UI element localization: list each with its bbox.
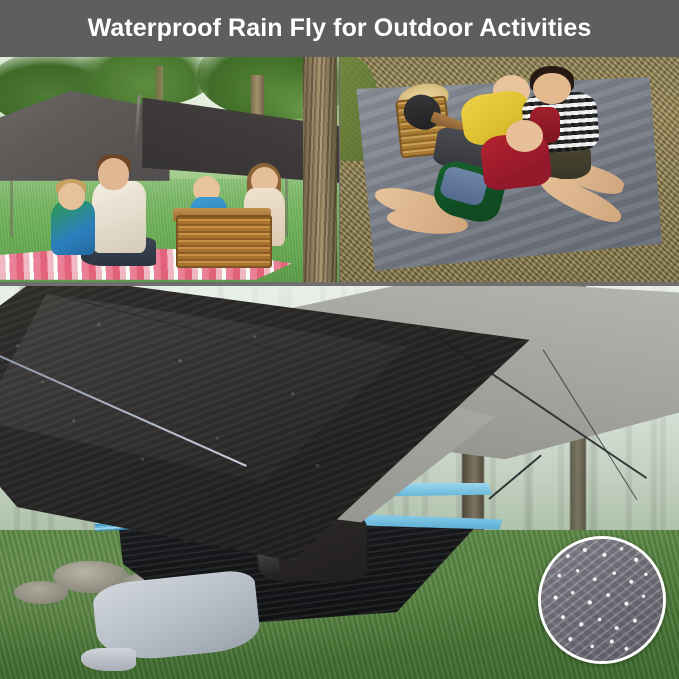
tarp-pole-right bbox=[285, 179, 288, 238]
boy-head bbox=[58, 183, 85, 210]
photo-panel-friends-blanket bbox=[340, 57, 679, 282]
panel-divider-vertical bbox=[339, 57, 340, 282]
tarp-pole-left bbox=[10, 174, 13, 237]
plaid-man-head bbox=[533, 73, 570, 105]
picnic-basket bbox=[176, 215, 272, 269]
scene-family-picnic bbox=[0, 57, 339, 282]
scene-friends-on-blanket bbox=[340, 57, 679, 282]
man-body bbox=[92, 181, 146, 253]
header-banner: Waterproof Rain Fly for Outdoor Activiti… bbox=[0, 0, 679, 57]
water-droplets bbox=[541, 539, 663, 661]
tree-trunk-foreground bbox=[303, 57, 337, 282]
water-beading-closeup-inset bbox=[538, 536, 666, 664]
page-title: Waterproof Rain Fly for Outdoor Activiti… bbox=[88, 14, 592, 43]
hammock-person-shoe bbox=[81, 648, 135, 672]
photo-panel-family-picnic bbox=[0, 57, 339, 282]
product-poster: Waterproof Rain Fly for Outdoor Activiti… bbox=[0, 0, 679, 679]
red-top-woman-head bbox=[506, 120, 543, 152]
man-head bbox=[98, 158, 129, 190]
